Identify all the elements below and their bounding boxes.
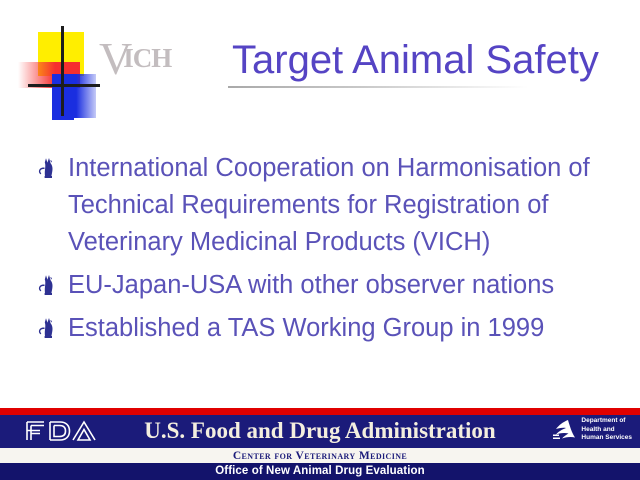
office-name: Office of New Animal Drug Evaluation xyxy=(0,464,640,479)
slide-header: VICH Target Animal Safety xyxy=(0,0,640,130)
list-item: Established a TAS Working Group in 1999 xyxy=(36,310,636,347)
title-underline xyxy=(228,86,528,88)
agency-title: U.S. Food and Drug Administration xyxy=(0,418,640,444)
cat-icon xyxy=(36,272,58,302)
list-item: International Cooperation on Harmonisati… xyxy=(36,150,636,261)
logo-horizontal-bar xyxy=(28,84,100,87)
hhs-logo: Department of Health and Human Services xyxy=(551,417,632,443)
list-item-label: Established a TAS Working Group in 1999 xyxy=(68,310,636,347)
fda-footer-banner: U.S. Food and Drug Administration Depart… xyxy=(0,408,640,480)
vich-logo xyxy=(18,26,110,116)
hhs-eagle-icon xyxy=(551,418,577,442)
hhs-label-line1: Department of xyxy=(581,417,625,424)
hhs-label-line3: Human Services xyxy=(581,434,632,441)
page-title: Target Animal Safety xyxy=(232,36,599,84)
cat-icon xyxy=(36,315,58,345)
list-item-label: International Cooperation on Harmonisati… xyxy=(68,150,636,261)
vich-wordmark-ich: ICH xyxy=(123,43,171,73)
logo-vertical-bar xyxy=(61,26,64,116)
list-item: EU-Japan-USA with other observer nations xyxy=(36,267,636,304)
hhs-label: Department of Health and Human Services xyxy=(581,417,632,443)
list-item-label: EU-Japan-USA with other observer nations xyxy=(68,267,636,304)
bullet-list: International Cooperation on Harmonisati… xyxy=(36,150,636,353)
vich-wordmark: VICH xyxy=(99,36,180,82)
hhs-label-line2: Health and xyxy=(581,426,614,433)
slide: VICH Target Animal Safety International … xyxy=(0,0,640,480)
footer-red-stripe xyxy=(0,408,640,415)
center-name: Center for Veterinary Medicine xyxy=(0,449,640,463)
cat-icon xyxy=(36,155,58,185)
